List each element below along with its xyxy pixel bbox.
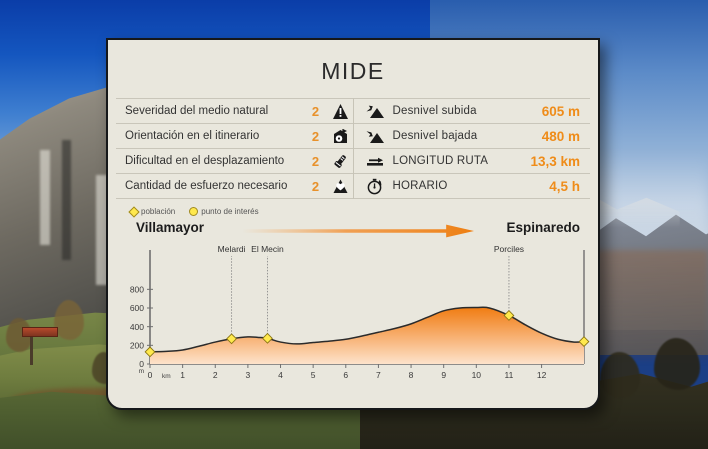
mide-right-value: 4,5 h [549,179,590,194]
mide-right-value: 480 m [542,129,590,144]
table-row: Orientación en el itinerario 2 [116,123,353,148]
svg-text:400: 400 [130,322,144,332]
route-end-label: Espinaredo [506,220,580,235]
svg-text:12: 12 [537,370,547,380]
svg-text:6: 6 [343,370,348,380]
svg-text:0: 0 [148,370,153,380]
stopwatch-icon [364,178,388,195]
page-title: MIDE [108,40,598,98]
mide-right-value: 605 m [542,104,590,119]
svg-text:2: 2 [213,370,218,380]
mide-right-column: Desnivel subida 605 m Desnivel bajada 48… [354,98,591,199]
svg-text:km: km [162,373,171,380]
elevation-profile-chart: 0200400600800m0123456789101112kmMelardiE… [116,242,598,399]
mide-left-value: 2 [303,179,329,194]
svg-text:200: 200 [130,341,144,351]
mide-right-label: Desnivel subida [388,105,542,117]
svg-text:10: 10 [472,370,482,380]
chart-legend: población punto de interés [108,199,598,218]
svg-text:Porciles: Porciles [494,244,524,254]
crag-shadow [62,140,71,260]
mide-left-label: Orientación en el itinerario [116,130,303,142]
svg-text:800: 800 [130,285,144,295]
mide-panel: MIDE Severidad del medio natural 2 Orien… [106,38,600,410]
compass-map-icon [329,128,353,145]
tree [54,300,84,340]
svg-text:11: 11 [505,370,514,380]
svg-text:5: 5 [311,370,316,380]
legend-label: población [141,207,175,216]
svg-text:600: 600 [130,303,144,313]
mide-left-label: Severidad del medio natural [116,105,303,117]
svg-text:8: 8 [409,370,414,380]
table-row: HORARIO 4,5 h [354,173,591,199]
mide-right-value: 13,3 km [530,154,590,169]
diamond-marker-icon [128,206,139,217]
mide-left-value: 2 [303,154,329,169]
svg-text:El Mecin: El Mecin [251,244,284,254]
svg-text:9: 9 [441,370,446,380]
legend-item-poblacion: población [130,207,175,216]
mide-right-label: Desnivel bajada [388,130,542,142]
table-row: Dificultad en el desplazamiento 2 [116,148,353,173]
table-row: Severidad del medio natural 2 [116,98,353,123]
profile-svg: 0200400600800m0123456789101112kmMelardiE… [116,242,594,394]
circle-marker-icon [189,207,198,216]
svg-text:Melardi: Melardi [218,244,246,254]
table-row: LONGITUD RUTA 13,3 km [354,148,591,173]
crag-streak [40,150,50,245]
effort-heart-icon [329,178,353,195]
signpost-arm [22,327,58,337]
legend-label: punto de interés [201,207,258,216]
table-row: Desnivel bajada 480 m [354,123,591,148]
mide-left-label: Cantidad de esfuerzo necesario [116,180,303,192]
mide-left-label: Dificultad en el desplazamiento [116,155,303,167]
svg-text:3: 3 [246,370,251,380]
route-direction-arrow-icon [242,224,474,238]
mide-left-column: Severidad del medio natural 2 Orientació… [116,98,354,199]
route-header: Villamayor Espinaredo [122,218,584,242]
svg-text:1: 1 [180,370,185,380]
distance-arrow-icon [364,154,388,169]
mide-right-label: LONGITUD RUTA [388,155,531,167]
boot-icon [329,153,353,170]
table-row: Cantidad de esfuerzo necesario 2 [116,173,353,199]
mide-table: Severidad del medio natural 2 Orientació… [108,98,598,199]
svg-text:7: 7 [376,370,381,380]
mountain-up-icon [364,104,388,119]
mountain-down-icon [364,129,388,144]
mide-right-label: HORARIO [388,180,550,192]
svg-text:m: m [139,368,144,375]
mide-left-value: 2 [303,129,329,144]
route-start-label: Villamayor [136,220,204,235]
legend-item-punto-interes: punto de interés [189,207,258,216]
mide-left-value: 2 [303,104,329,119]
svg-text:4: 4 [278,370,283,380]
warning-triangle-icon [329,103,353,120]
table-row: Desnivel subida 605 m [354,98,591,123]
